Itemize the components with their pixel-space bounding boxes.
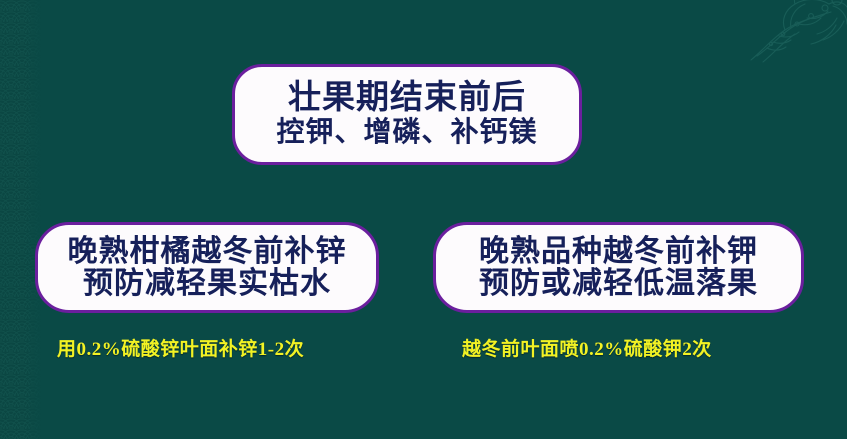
headline-box-right-line2: 预防或减轻低温落果 <box>479 268 758 300</box>
caption-left: 用0.2%硫酸锌叶面补锌1-2次 <box>57 334 304 361</box>
headline-box-left: 晚熟柑橘越冬前补锌 预防减轻果实枯水 <box>35 222 379 313</box>
headline-box-top: 壮果期结束前后 控钾、增磷、补钙镁 <box>232 64 582 165</box>
headline-box-top-line1: 壮果期结束前后 <box>288 81 526 116</box>
headline-box-top-line2: 控钾、增磷、补钙镁 <box>276 118 537 148</box>
headline-box-left-line2: 预防减轻果实枯水 <box>83 268 331 300</box>
headline-box-left-line1: 晚熟柑橘越冬前补锌 <box>68 236 347 268</box>
slide-canvas: 壮果期结束前后 控钾、增磷、补钙镁 晚熟柑橘越冬前补锌 预防减轻果实枯水 晚熟品… <box>0 0 847 439</box>
seigaiha-wave-pattern <box>0 0 42 439</box>
headline-box-right: 晚熟品种越冬前补钾 预防或减轻低温落果 <box>433 222 804 313</box>
headline-box-right-line1: 晚熟品种越冬前补钾 <box>479 236 758 268</box>
caption-right: 越冬前叶面喷0.2%硫酸钾2次 <box>462 334 712 361</box>
